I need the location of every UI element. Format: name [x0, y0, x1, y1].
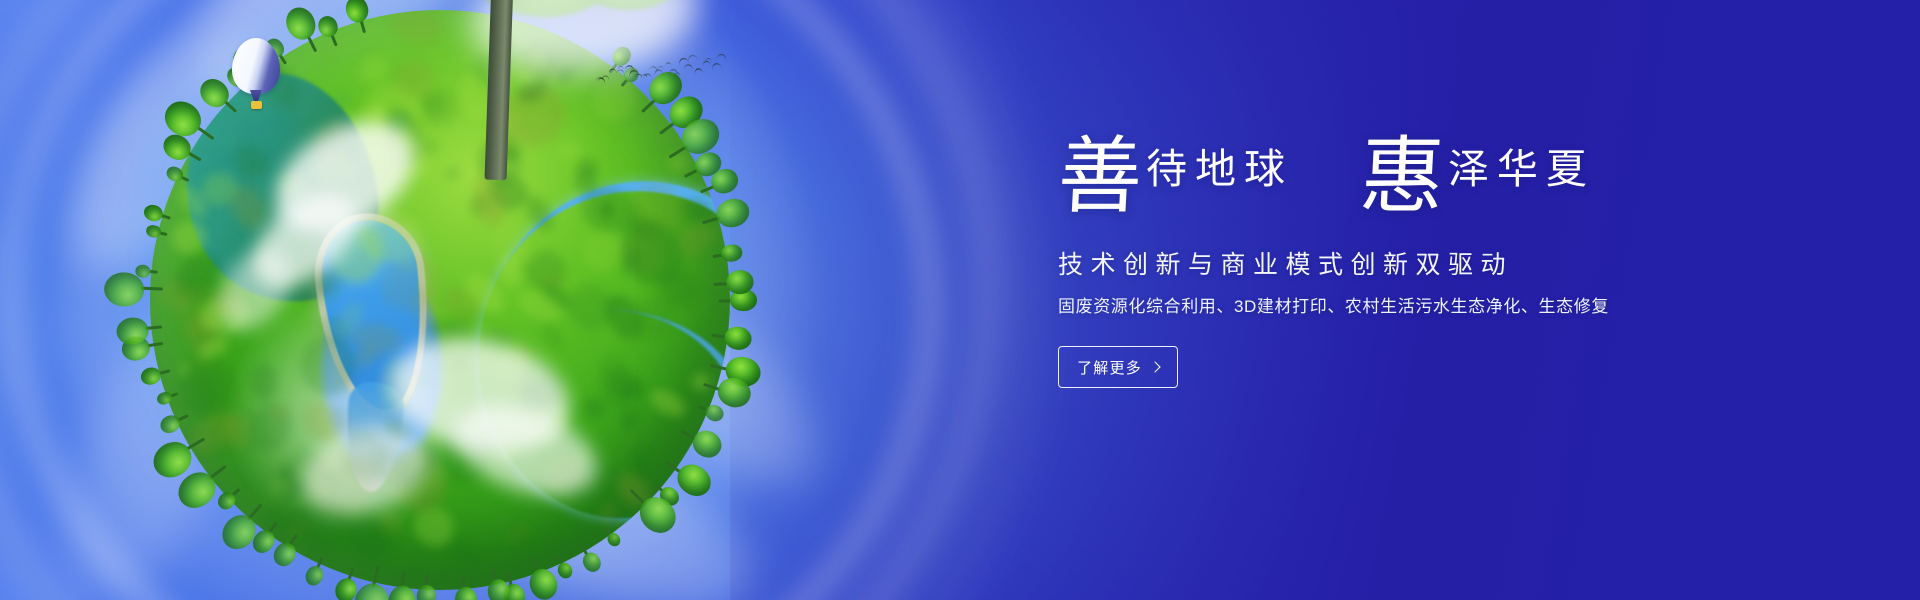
- balloon-envelope: [232, 38, 280, 94]
- headline-tail-chars-2: 泽华夏: [1448, 149, 1595, 190]
- headline: 善待地球 惠泽华夏: [1058, 136, 1758, 232]
- vegetation-patch: [251, 363, 279, 402]
- vegetation-patch: [301, 336, 357, 397]
- bird-icon: [643, 73, 652, 79]
- banner-copy: 善待地球 惠泽华夏 技术创新与商业模式创新双驱动 固废资源化综合利用、3D建材打…: [1058, 136, 1758, 388]
- vegetation-patch: [446, 535, 482, 571]
- banner-subtitle: 技术创新与商业模式创新双驱动: [1058, 248, 1758, 282]
- headline-lead-char-1: 善: [1056, 136, 1144, 220]
- banner-description: 固废资源化综合利用、3D建材打印、农村生活污水生态净化、生态修复: [1058, 294, 1758, 320]
- headline-lead-char-2: 惠: [1358, 136, 1446, 220]
- headline-phrase-1: 善待地球: [1058, 136, 1293, 220]
- bird-flock: [592, 50, 722, 96]
- learn-more-label: 了解更多: [1077, 357, 1142, 378]
- bird-icon: [657, 65, 664, 71]
- headline-phrase-2: 惠泽华夏: [1360, 136, 1595, 220]
- hero-banner: 善待地球 惠泽华夏 技术创新与商业模式创新双驱动 固废资源化综合利用、3D建材打…: [0, 0, 1920, 600]
- balloon-basket: [251, 101, 262, 109]
- bird-icon: [705, 58, 712, 63]
- bird-icon: [601, 75, 610, 81]
- headline-tail-chars-1: 待地球: [1146, 149, 1293, 190]
- vegetation-patch: [333, 91, 354, 106]
- learn-more-button[interactable]: 了解更多: [1058, 346, 1178, 388]
- bird-icon: [666, 62, 672, 66]
- bird-icon: [687, 53, 699, 63]
- bird-icon: [694, 68, 703, 75]
- hot-air-balloon: [232, 38, 280, 116]
- tree-trunk: [485, 0, 514, 180]
- chevron-right-icon: [1149, 361, 1160, 372]
- bird-icon: [711, 62, 722, 71]
- bird-icon: [684, 64, 694, 71]
